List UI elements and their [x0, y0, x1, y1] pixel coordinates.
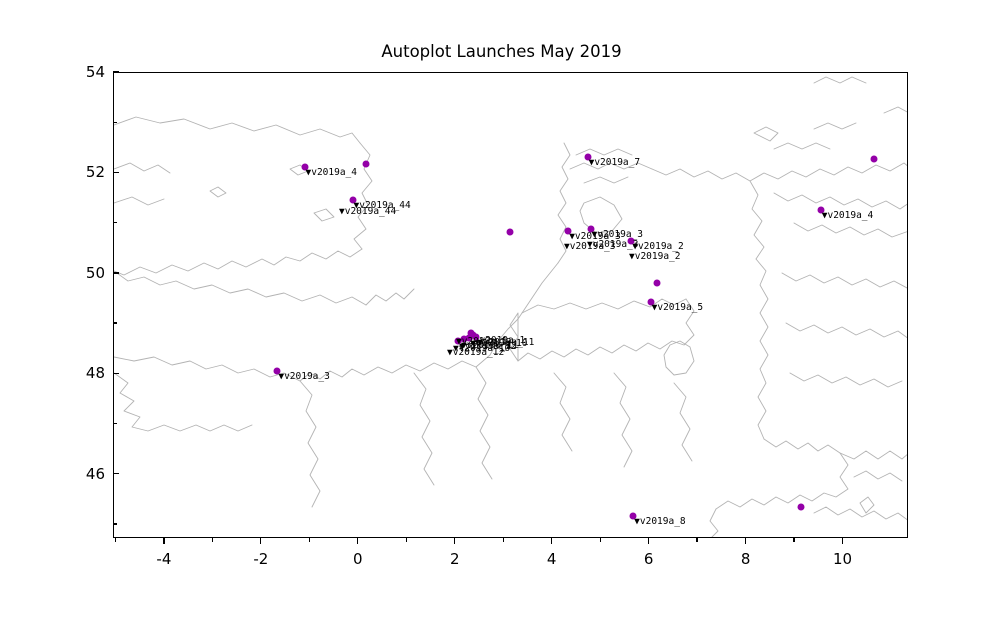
x-tick-minor [696, 538, 697, 542]
data-point-label: ▼v2019a_8 [634, 517, 685, 527]
y-tick-label: 46 [47, 465, 105, 483]
page-title: Autoplot Launches May 2019 [0, 42, 1003, 61]
x-tick-major [551, 538, 552, 544]
cluster-label: ▼v2019a_11 [461, 341, 518, 351]
y-tick-minor [113, 222, 117, 223]
x-tick-major [260, 538, 261, 544]
x-tick-major [163, 538, 164, 544]
x-tick-label: -2 [253, 550, 268, 568]
y-tick-minor [113, 322, 117, 323]
x-tick-minor [212, 538, 213, 542]
x-tick-label: 2 [450, 550, 460, 568]
x-tick-minor [115, 538, 116, 542]
y-tick-major [113, 172, 119, 173]
data-point-marker[interactable] [798, 504, 805, 511]
figure-canvas: Autoplot Launches May 2019 [0, 0, 1003, 633]
cluster-label: ▼v2019a_44 [339, 207, 396, 217]
x-tick-label: -4 [156, 550, 171, 568]
data-point-marker[interactable] [654, 279, 661, 286]
data-point-marker[interactable] [363, 161, 370, 168]
cluster-label: ▼v2019a_3 [587, 240, 638, 250]
x-tick-major [842, 538, 843, 544]
y-tick-label: 52 [47, 163, 105, 181]
x-tick-minor [503, 538, 504, 542]
data-point-label: ▼v2019a_3 [278, 372, 329, 382]
y-tick-minor [113, 423, 117, 424]
y-tick-major [113, 71, 119, 72]
x-tick-label: 10 [833, 550, 852, 568]
basemap-coastlines [114, 73, 908, 538]
y-tick-major [113, 473, 119, 474]
x-tick-minor [309, 538, 310, 542]
y-tick-label: 54 [47, 63, 105, 81]
data-point-marker[interactable] [507, 229, 514, 236]
data-point-label: ▼v2019a_4 [306, 168, 357, 178]
cluster-label: ▼v2019a_2 [629, 252, 680, 262]
y-tick-major [113, 272, 119, 273]
y-tick-major [113, 373, 119, 374]
x-tick-major [745, 538, 746, 544]
y-tick-minor [113, 523, 117, 524]
data-point-label: ▼v2019a_5 [652, 303, 703, 313]
x-tick-label: 4 [547, 550, 557, 568]
x-tick-major [357, 538, 358, 544]
x-tick-label: 0 [353, 550, 363, 568]
x-tick-label: 8 [741, 550, 751, 568]
data-point-label: ▼v2019a_4 [822, 211, 873, 221]
x-tick-minor [793, 538, 794, 542]
x-tick-minor [406, 538, 407, 542]
y-tick-label: 48 [47, 364, 105, 382]
x-tick-major [454, 538, 455, 544]
data-point-marker[interactable] [870, 156, 877, 163]
y-tick-label: 50 [47, 264, 105, 282]
x-tick-major [648, 538, 649, 544]
plot-area[interactable]: ▼v2019a_4▼v2019a_44▼v2019a_7▼v2019a_4▼v2… [113, 72, 908, 538]
x-tick-label: 6 [644, 550, 654, 568]
y-tick-minor [113, 122, 117, 123]
x-tick-minor [600, 538, 601, 542]
data-point-label: ▼v2019a_7 [589, 158, 640, 168]
